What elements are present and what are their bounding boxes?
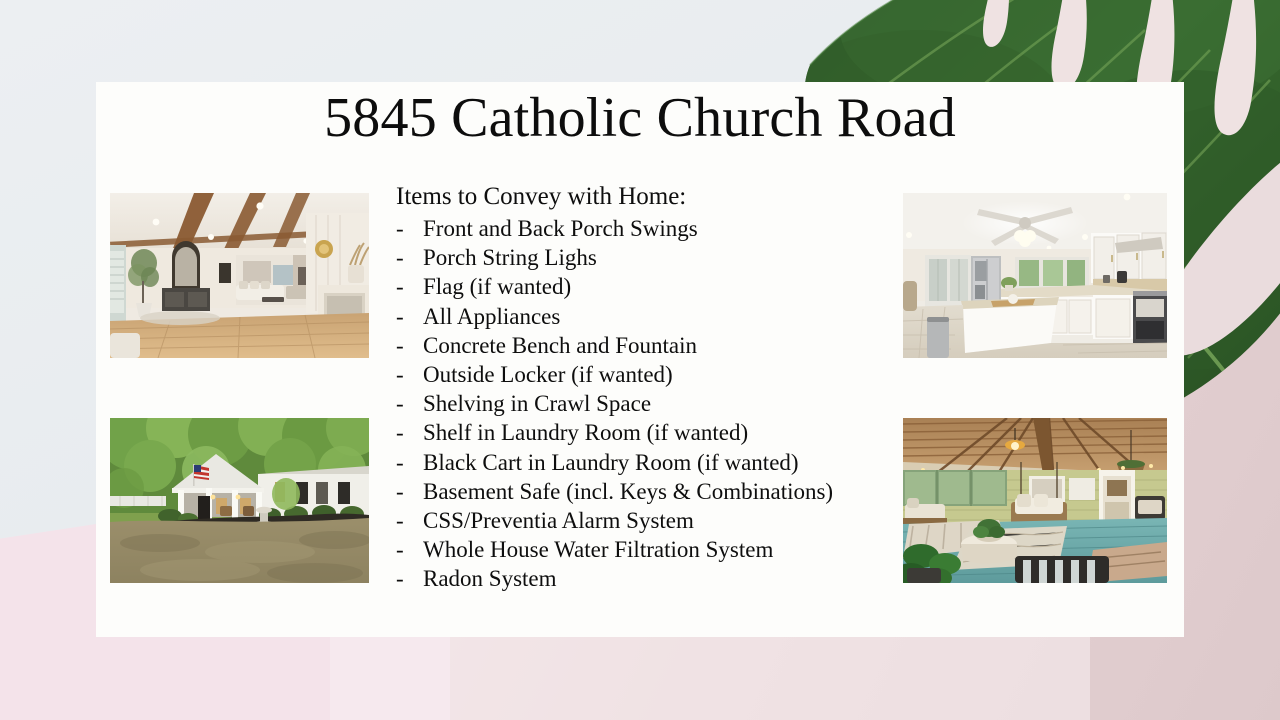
convey-item-label: Shelving in Crawl Space [423, 389, 651, 418]
convey-item-label: CSS/Preventia Alarm System [423, 506, 694, 535]
convey-item-label: Basement Safe (incl. Keys & Combinations… [423, 477, 833, 506]
convey-item-label: Front and Back Porch Swings [423, 214, 698, 243]
convey-item-label: Radon System [423, 564, 557, 593]
bullet-dash-icon: - [396, 448, 423, 477]
bullet-dash-icon: - [396, 214, 423, 243]
convey-item: -Outside Locker (if wanted) [396, 360, 1006, 389]
convey-items-heading: Items to Convey with Home: [396, 182, 1006, 212]
convey-item: -Flag (if wanted) [396, 272, 1006, 301]
convey-item-label: Black Cart in Laundry Room (if wanted) [423, 448, 799, 477]
convey-item-label: Flag (if wanted) [423, 272, 571, 301]
bullet-dash-icon: - [396, 535, 423, 564]
convey-item: -Shelf in Laundry Room (if wanted) [396, 418, 1006, 447]
convey-item: -CSS/Preventia Alarm System [396, 506, 1006, 535]
convey-item: -Basement Safe (incl. Keys & Combination… [396, 477, 1006, 506]
photo-living-room [110, 193, 369, 358]
convey-item: -All Appliances [396, 302, 1006, 331]
bullet-dash-icon: - [396, 302, 423, 331]
convey-item: -Black Cart in Laundry Room (if wanted) [396, 448, 1006, 477]
convey-item-label: Shelf in Laundry Room (if wanted) [423, 418, 748, 447]
photo-exterior-front [110, 418, 369, 583]
bullet-dash-icon: - [396, 243, 423, 272]
convey-item: -Front and Back Porch Swings [396, 214, 1006, 243]
bullet-dash-icon: - [396, 389, 423, 418]
bullet-dash-icon: - [396, 360, 423, 389]
bullet-dash-icon: - [396, 331, 423, 360]
convey-item-label: All Appliances [423, 302, 560, 331]
convey-items-list: -Front and Back Porch Swings-Porch Strin… [396, 214, 1006, 594]
slide-canvas: 5845 Catholic Church Road [0, 0, 1280, 720]
page-title: 5845 Catholic Church Road [96, 88, 1184, 150]
convey-item: -Radon System [396, 564, 1006, 593]
bullet-dash-icon: - [396, 272, 423, 301]
convey-item: -Concrete Bench and Fountain [396, 331, 1006, 360]
convey-item-label: Concrete Bench and Fountain [423, 331, 697, 360]
convey-item-label: Outside Locker (if wanted) [423, 360, 673, 389]
bullet-dash-icon: - [396, 506, 423, 535]
content-card: 5845 Catholic Church Road [96, 82, 1184, 637]
bullet-dash-icon: - [396, 564, 423, 593]
convey-items-block: Items to Convey with Home: -Front and Ba… [396, 182, 1006, 594]
convey-item: -Porch String Lighs [396, 243, 1006, 272]
convey-item-label: Porch String Lighs [423, 243, 597, 272]
convey-item: -Whole House Water Filtration System [396, 535, 1006, 564]
convey-item: -Shelving in Crawl Space [396, 389, 1006, 418]
bullet-dash-icon: - [396, 418, 423, 447]
bullet-dash-icon: - [396, 477, 423, 506]
convey-item-label: Whole House Water Filtration System [423, 535, 773, 564]
